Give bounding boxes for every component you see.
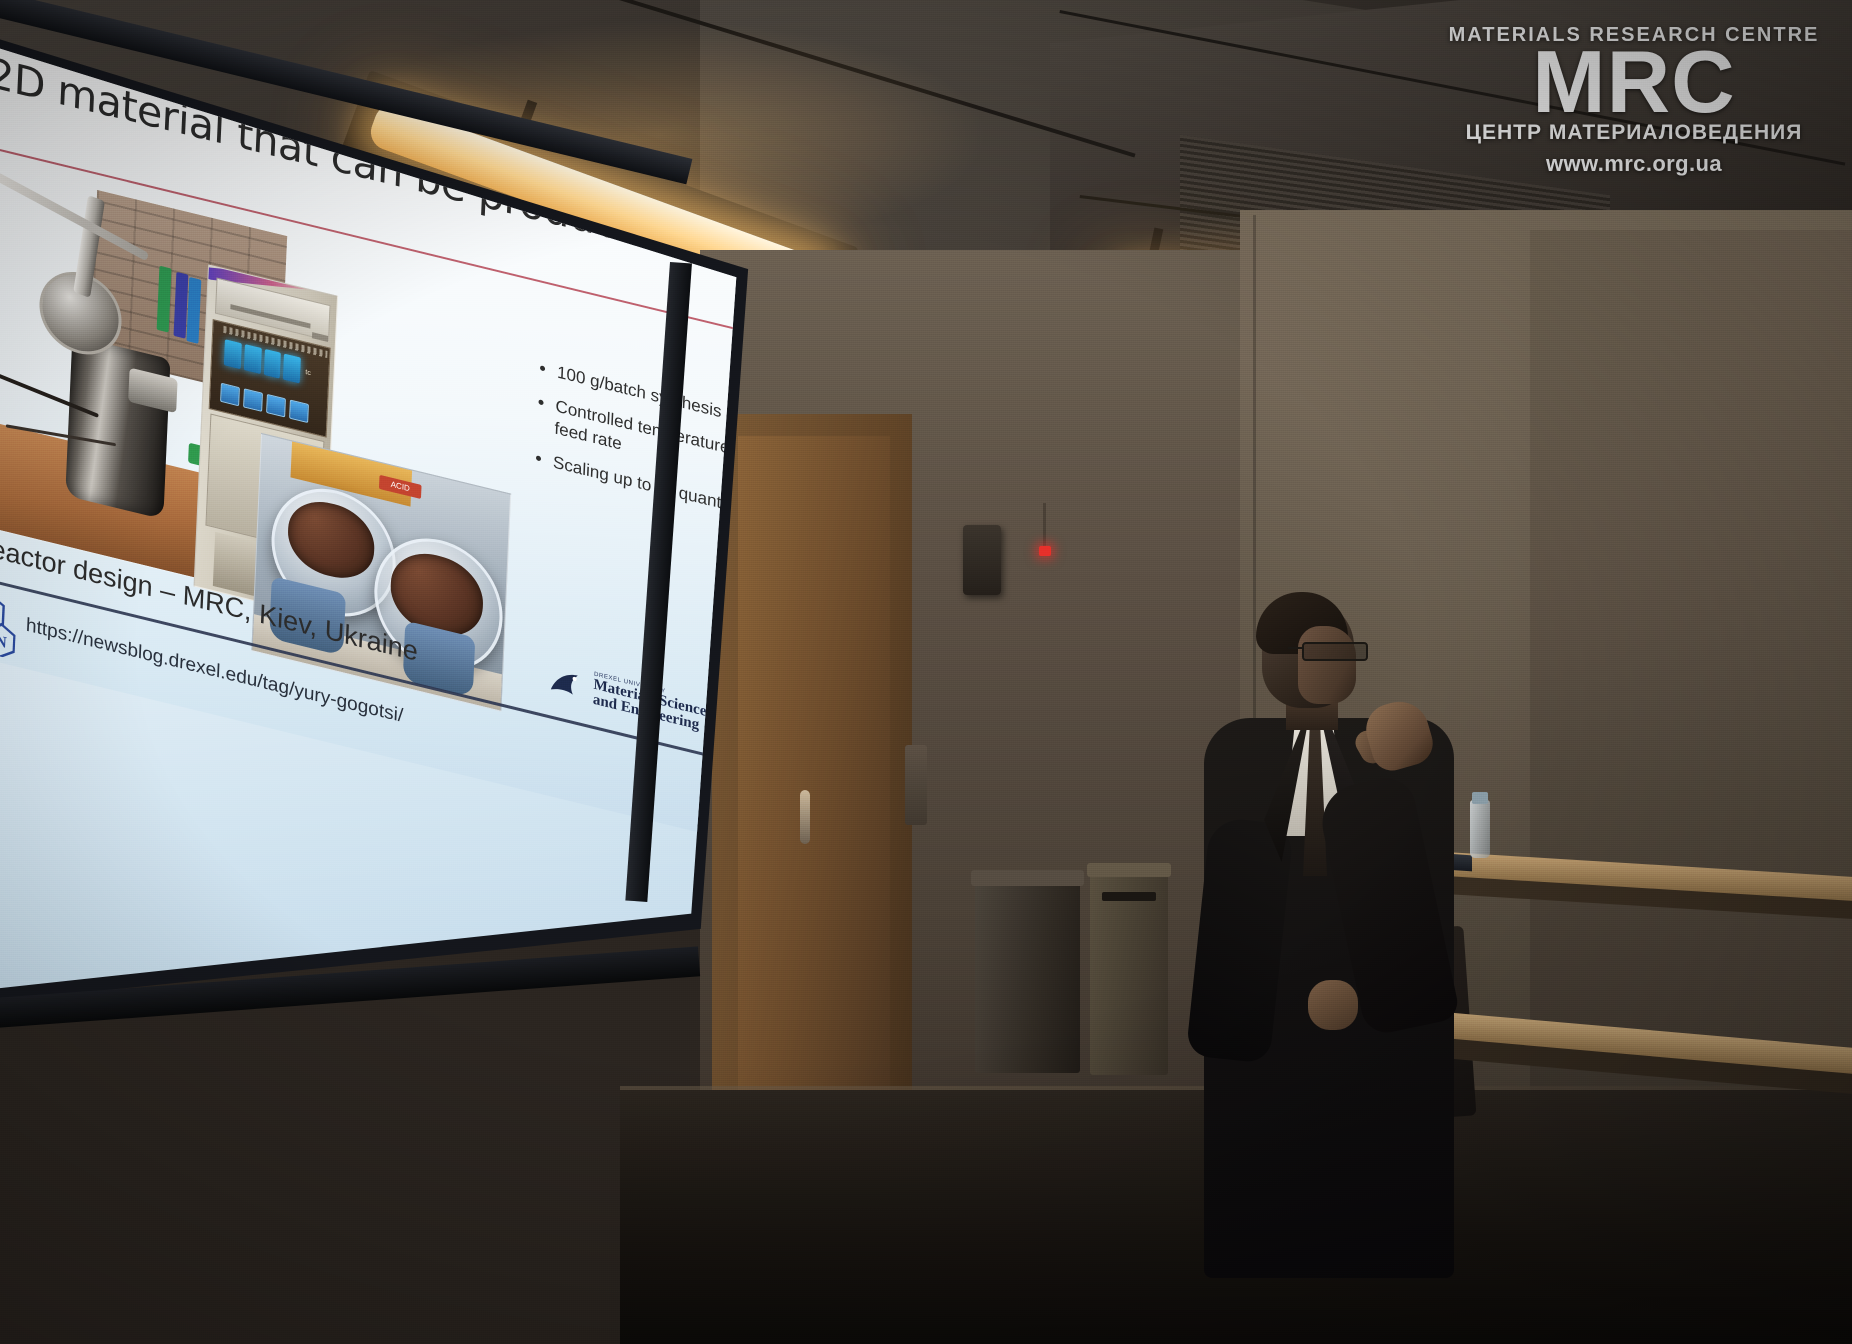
presenter-face bbox=[1298, 626, 1356, 704]
bin-slot bbox=[1102, 892, 1156, 901]
wall-plate bbox=[905, 745, 927, 825]
projection-screen: 2D material that can be produced in a sc… bbox=[0, 0, 770, 1070]
presenter bbox=[1190, 590, 1530, 1344]
controller-key bbox=[266, 394, 286, 418]
bin-lid bbox=[1087, 863, 1171, 877]
door-handle[interactable] bbox=[800, 790, 810, 844]
controller-key bbox=[220, 383, 240, 407]
display-digit bbox=[283, 354, 301, 384]
petri-dishes-powder-photo: ACID bbox=[251, 433, 511, 712]
controller-key bbox=[243, 388, 263, 412]
wall-speaker bbox=[963, 525, 1001, 595]
drive-eject-button bbox=[312, 332, 328, 342]
display-unit-label: tc bbox=[305, 369, 311, 377]
watermark-acronym: MRC bbox=[1444, 42, 1824, 123]
display-digit bbox=[224, 339, 242, 369]
lecture-room-photo: 2D material that can be produced in a sc… bbox=[0, 0, 1852, 1344]
mrc-watermark: MATERIALS RESEARCH CENTRE MRC ЦЕНТР МАТЕ… bbox=[1444, 24, 1824, 177]
watermark-url: www.mrc.org.ua bbox=[1444, 151, 1824, 177]
red-led-indicator bbox=[1039, 546, 1051, 556]
display-digit bbox=[244, 344, 262, 374]
trash-bin-1 bbox=[975, 878, 1080, 1073]
drexel-dragon-icon bbox=[546, 662, 588, 708]
reactor-vessel-1 bbox=[65, 335, 170, 519]
eyeglasses bbox=[1302, 642, 1368, 661]
presenter-lower-hand bbox=[1308, 980, 1358, 1030]
display-digit bbox=[263, 349, 281, 379]
dni-hexagon-logo-icon: D I N bbox=[0, 584, 17, 660]
controller-key bbox=[289, 399, 309, 423]
led-stem bbox=[1043, 503, 1046, 547]
bin-lid bbox=[971, 870, 1084, 886]
controller-keypad bbox=[220, 383, 309, 423]
far-right-wall bbox=[1530, 230, 1852, 1130]
drive-slot bbox=[230, 304, 310, 328]
watermark-sub-line: ЦЕНТР МАТЕРИАЛОВЕДЕНИЯ bbox=[1444, 121, 1824, 145]
svg-text:N: N bbox=[0, 631, 7, 652]
